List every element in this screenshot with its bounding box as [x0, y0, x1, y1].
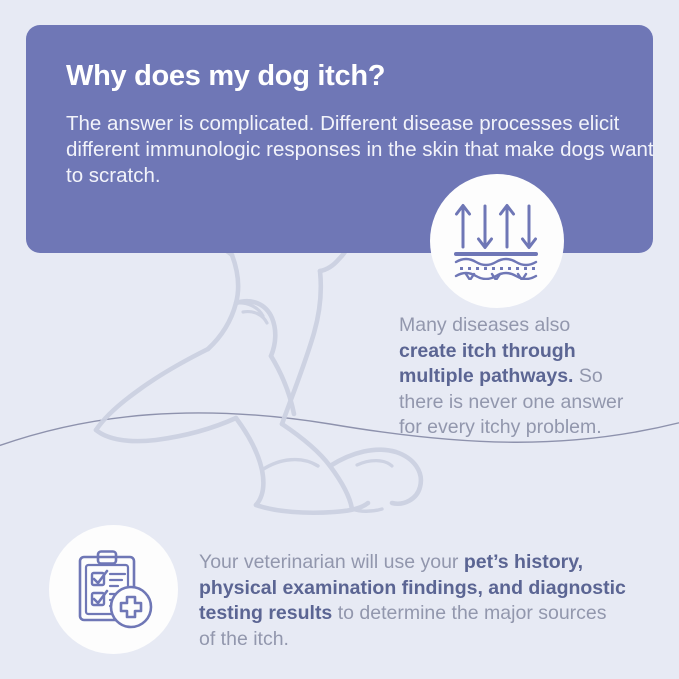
clipboard-checklist-medical-icon	[73, 549, 155, 631]
skin-arrows-icon	[454, 202, 540, 280]
infographic-root: Why does my dog itch? The answer is comp…	[0, 0, 679, 679]
hero-body-text: The answer is complicated. Different dis…	[66, 111, 656, 189]
veterinarian-paragraph: Your veterinarian will use your pet’s hi…	[199, 550, 627, 652]
clipboard-icon-circle	[49, 525, 178, 654]
skin-icon-circle	[430, 174, 564, 308]
pathways-paragraph: Many diseases also create itch through m…	[399, 313, 627, 441]
page-title: Why does my dog itch?	[66, 60, 385, 93]
skin-dots	[460, 267, 535, 270]
medical-cross-badge	[111, 587, 151, 627]
